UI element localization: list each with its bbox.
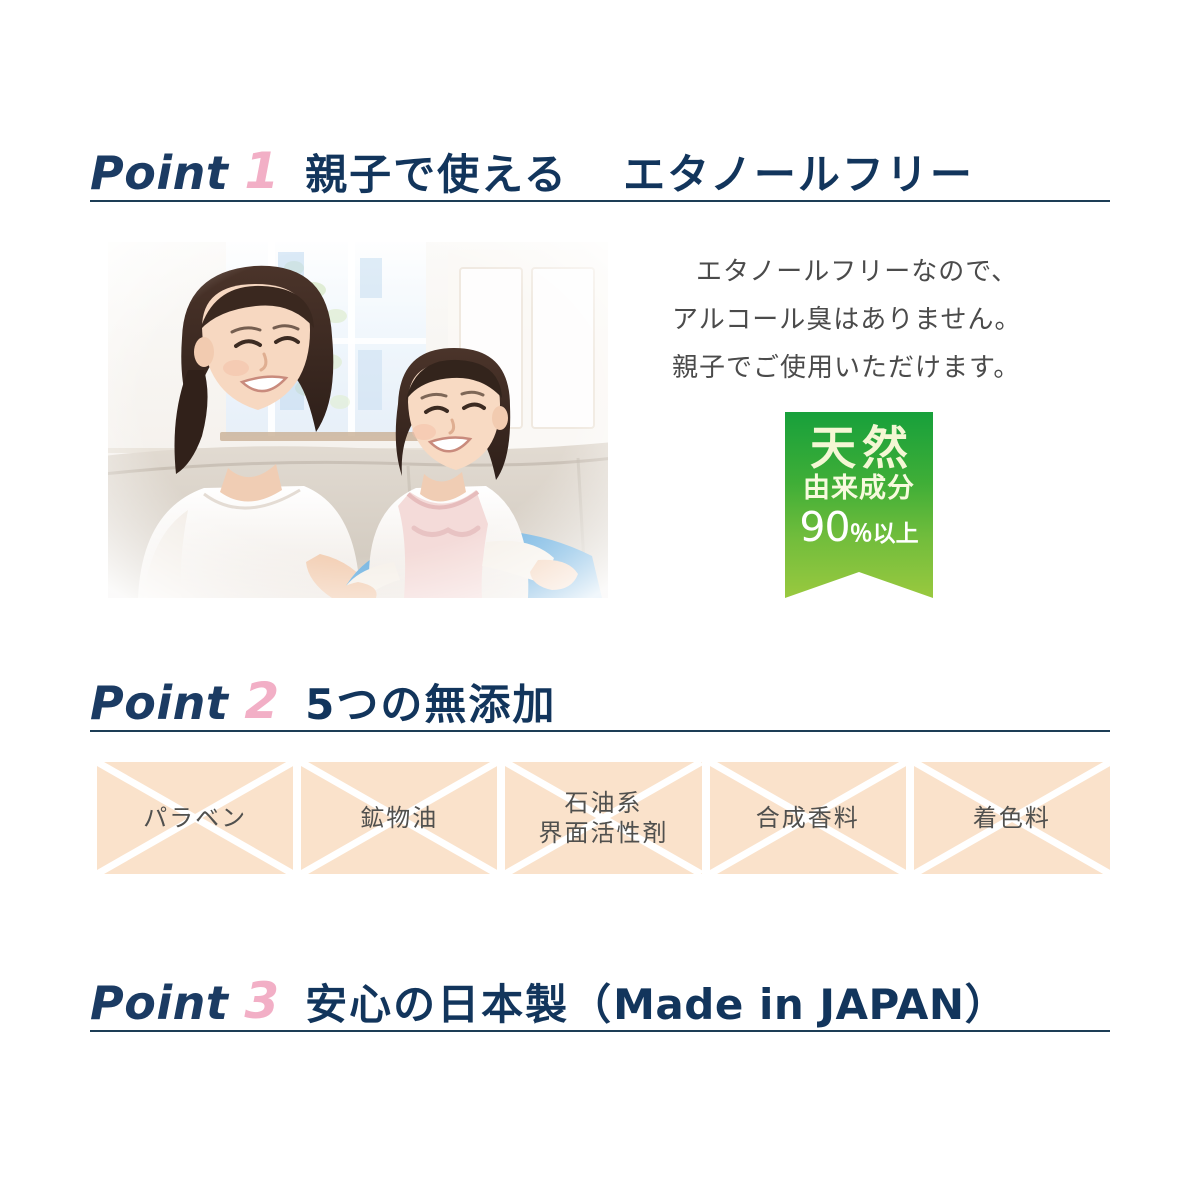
- point-1-number: 1: [244, 146, 279, 196]
- natural-ingredient-badge: 天然 由来成分 90％以上: [785, 412, 933, 598]
- free-from-label: 石油系 界面活性剤: [539, 788, 669, 848]
- free-from-label: 着色料: [973, 803, 1051, 833]
- free-from-item-4: 合成香料: [710, 762, 906, 874]
- badge-subline: 由来成分: [785, 474, 933, 504]
- point-3-header: Point 3 安心の日本製（Made in JAPAN）: [90, 960, 1110, 1032]
- point-1-header: Point 1 親子で使える エタノールフリー: [90, 130, 1110, 202]
- point-1-label: Point: [90, 150, 228, 196]
- description-line-3: 親子でご使用いただけます。: [672, 344, 1072, 392]
- point-1-title: 親子で使える エタノールフリー: [305, 154, 974, 196]
- family-photo: [108, 242, 608, 598]
- free-from-label: 鉱物油: [360, 803, 438, 833]
- free-from-item-3: 石油系 界面活性剤: [505, 762, 701, 874]
- description-line-1: エタノールフリーなので、: [672, 248, 1072, 296]
- badge-headline: 天然: [785, 424, 933, 472]
- point-3-label: Point: [90, 980, 228, 1026]
- badge-percentage: 90％以上: [785, 507, 933, 548]
- badge-percent-suffix: 以上: [873, 521, 919, 547]
- marketing-page: Point 1 親子で使える エタノールフリー: [0, 0, 1200, 1200]
- badge-percent-symbol: ％: [850, 521, 873, 547]
- point-3-title-close: ）: [965, 980, 1009, 1029]
- point-3-title-latin: Made in JAPAN: [613, 980, 964, 1029]
- badge-percent-number: 90: [799, 503, 849, 551]
- point-1-title-part1: 親子で使える: [305, 150, 568, 199]
- free-from-list: パラベン 鉱物油 石油系 界面活性剤 合成香料: [97, 762, 1110, 874]
- point-1-description: エタノールフリーなので、 アルコール臭はありません。 親子でご使用いただけます。: [672, 248, 1072, 392]
- point-2-header: Point 2 5つの無添加: [90, 660, 1110, 732]
- free-from-item-2: 鉱物油: [301, 762, 497, 874]
- point-3-number: 3: [244, 976, 279, 1026]
- point-1-title-part2: エタノールフリー: [623, 150, 974, 199]
- free-from-label: パラベン: [143, 803, 247, 833]
- point-2-title: 5つの無添加: [305, 684, 556, 726]
- point-2-label: Point: [90, 680, 228, 726]
- point-3-title: 安心の日本製（Made in JAPAN）: [305, 984, 1008, 1026]
- point-3-title-jp: 安心の日本製（: [305, 980, 613, 1029]
- point-2-number: 2: [244, 676, 279, 726]
- description-line-2: アルコール臭はありません。: [672, 296, 1072, 344]
- free-from-label: 合成香料: [756, 803, 860, 833]
- free-from-item-5: 着色料: [914, 762, 1110, 874]
- free-from-item-1: パラベン: [97, 762, 293, 874]
